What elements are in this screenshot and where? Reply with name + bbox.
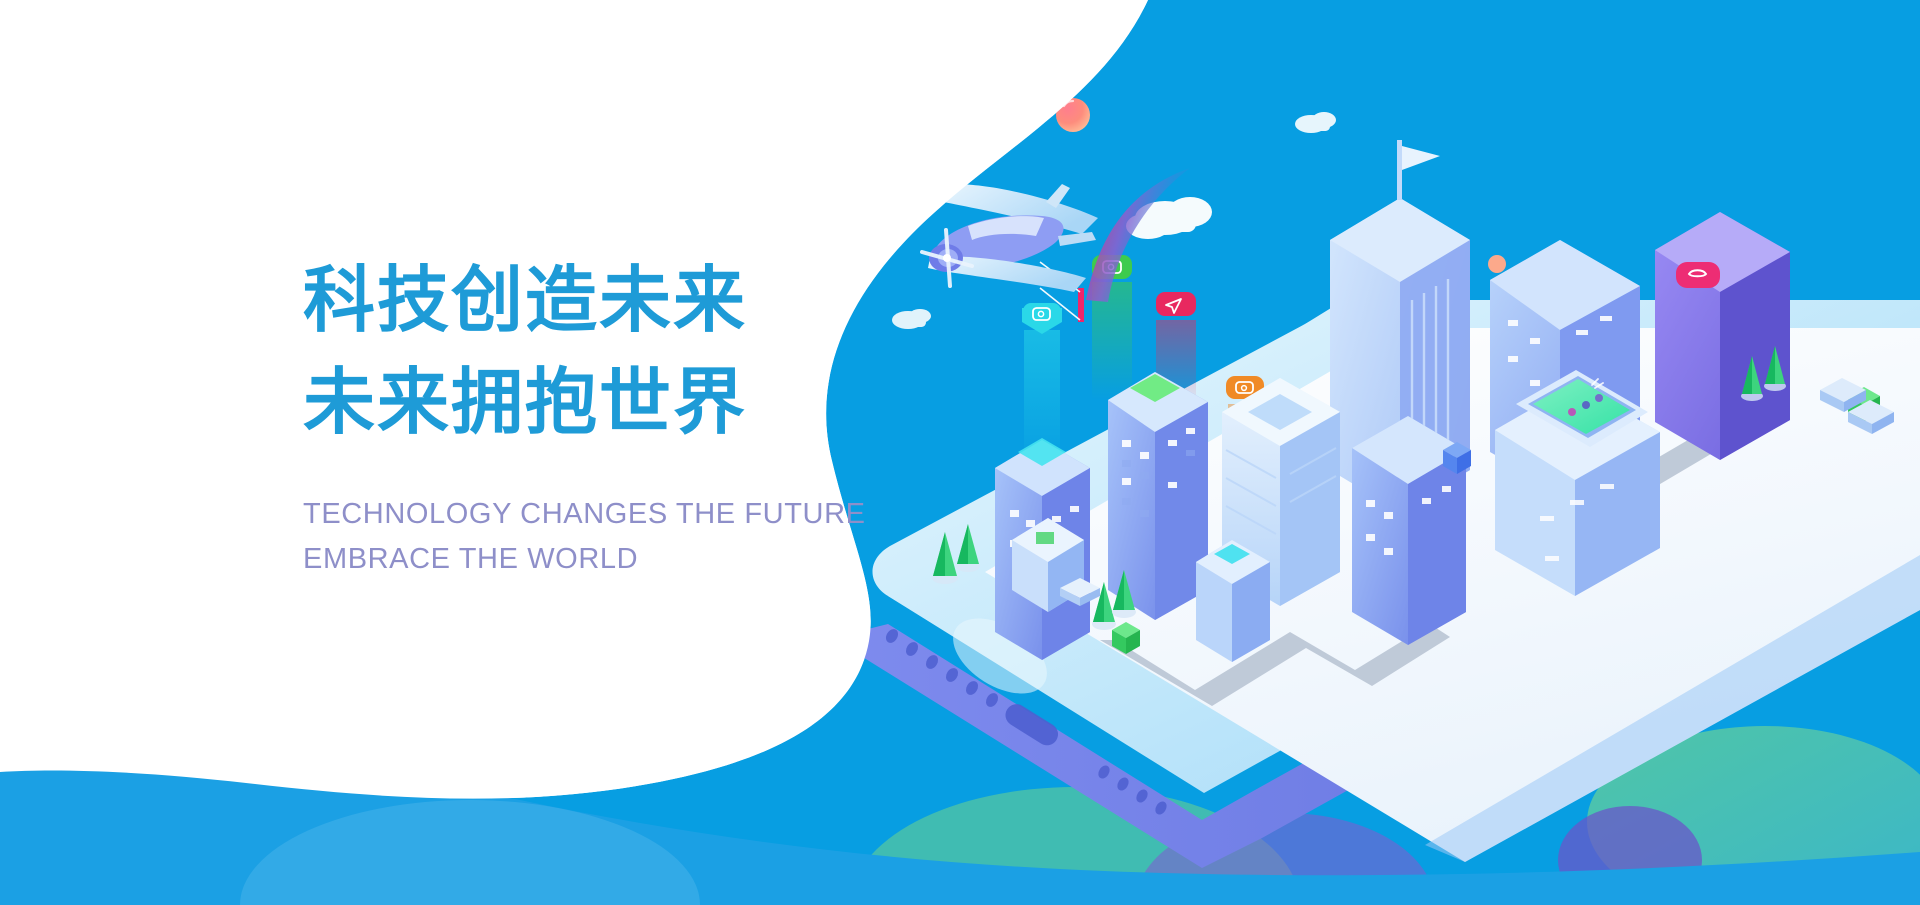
cloud-small (1295, 112, 1336, 133)
subtitle-line-2: EMBRACE THE WORLD (303, 537, 963, 582)
subtitle-line-1: TECHNOLOGY CHANGES THE FUTURE (303, 492, 963, 537)
headline-line-2: 未来拥抱世界 (303, 352, 963, 454)
badge-phone-pink (1676, 262, 1720, 288)
headline: 科技创造未来 未来拥抱世界 (303, 250, 963, 454)
hero-banner: 科技创造未来 未来拥抱世界 TECHNOLOGY CHANGES THE FUT… (0, 0, 1920, 905)
subtitle: TECHNOLOGY CHANGES THE FUTURE EMBRACE TH… (303, 492, 963, 582)
hero-text-block: 科技创造未来 未来拥抱世界 TECHNOLOGY CHANGES THE FUT… (303, 250, 963, 582)
headline-line-1: 科技创造未来 (303, 250, 963, 352)
tower-small-cyan (1196, 540, 1270, 662)
